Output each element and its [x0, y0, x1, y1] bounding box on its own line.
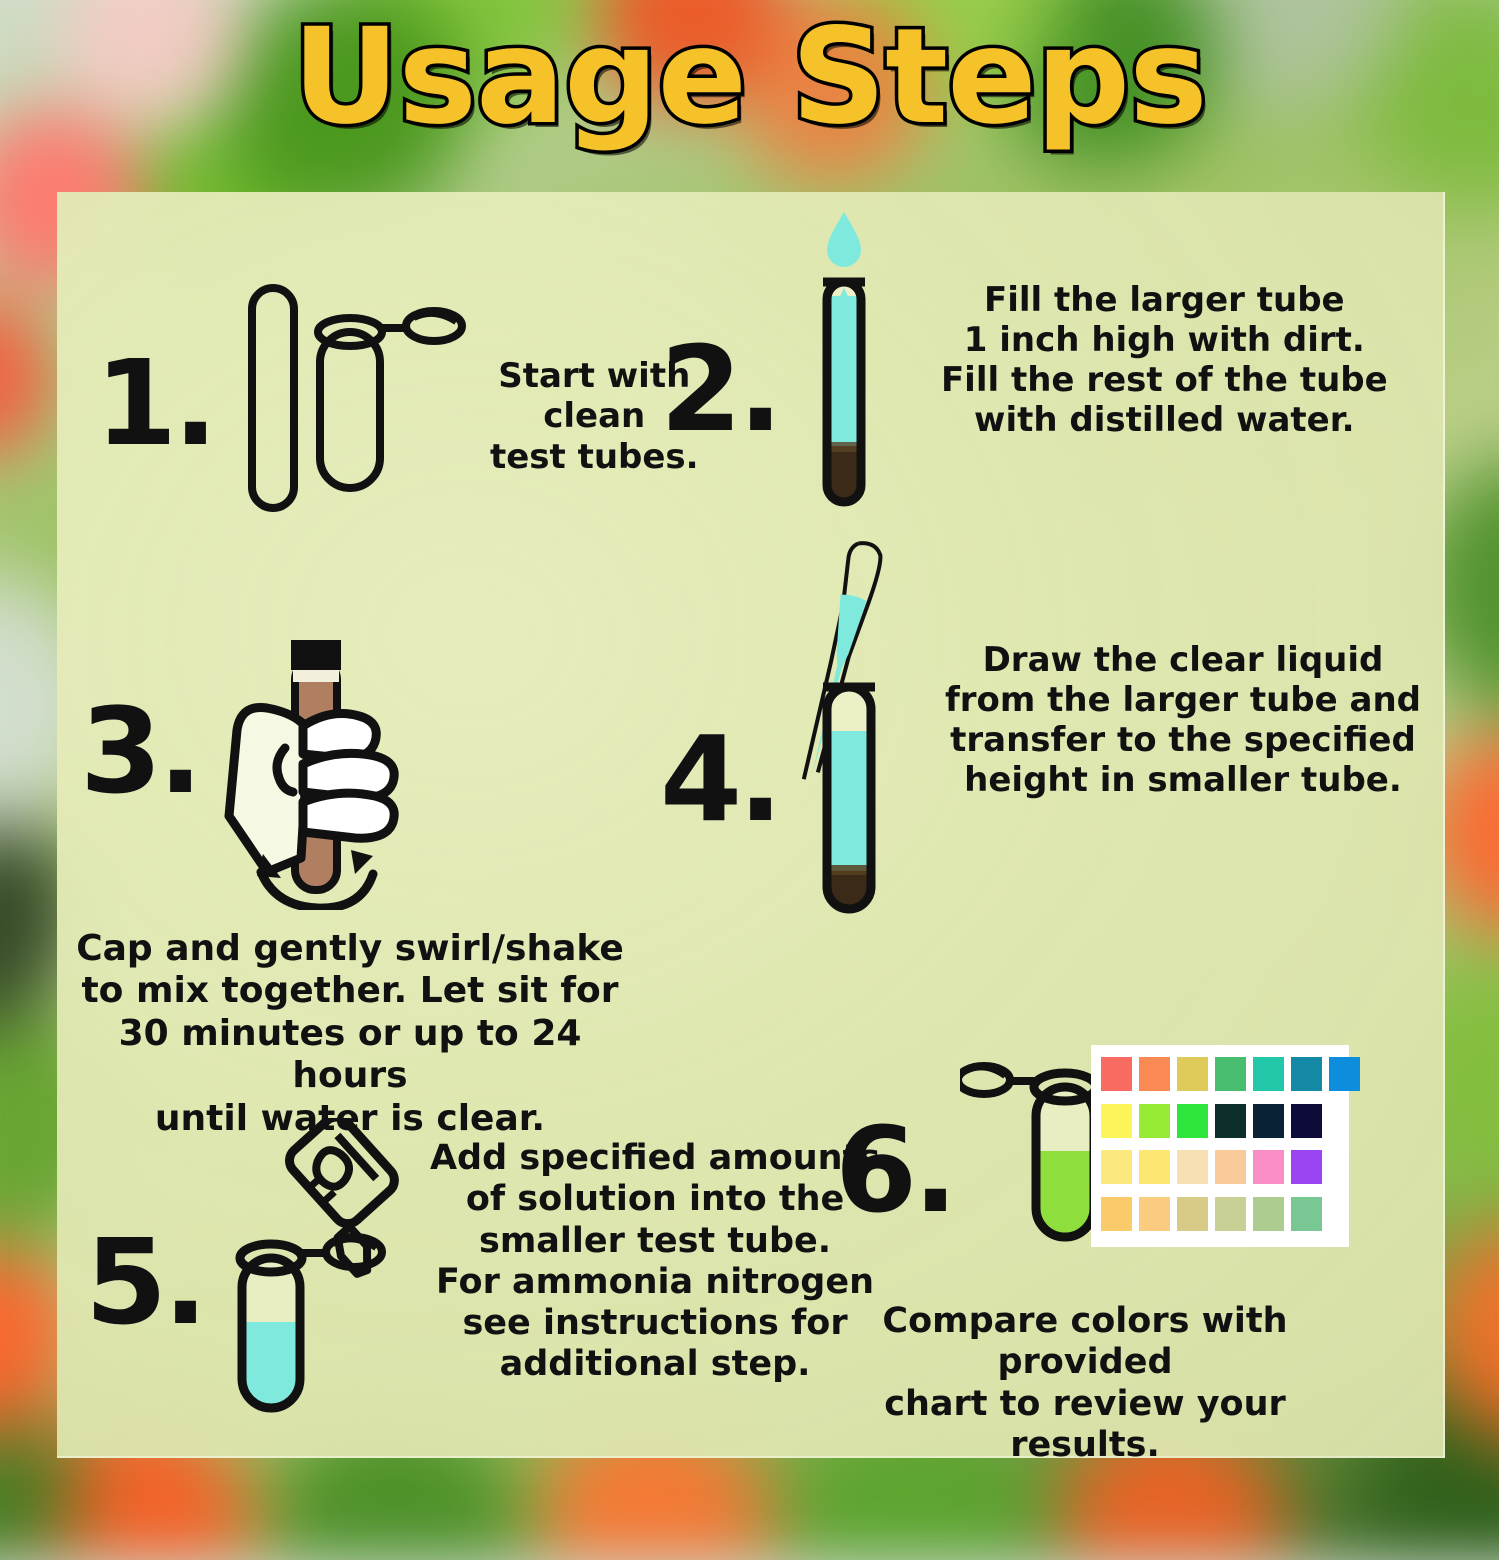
- color-swatch: [1177, 1197, 1208, 1231]
- color-swatch: [1101, 1104, 1132, 1138]
- color-swatch: [1215, 1197, 1246, 1231]
- step-3-caption: Cap and gently swirl/shake to mix togeth…: [70, 928, 630, 1140]
- step-1: 1. Start with clean test tubes.: [95, 290, 699, 515]
- color-swatch: [1215, 1057, 1246, 1091]
- step-4: 4. Draw the clear liquid from the lar: [660, 640, 1421, 925]
- comparison-color-chart: [1091, 1045, 1349, 1247]
- step-2-caption: Fill the larger tube 1 inch high with di…: [941, 280, 1388, 440]
- color-swatch: [1291, 1197, 1322, 1231]
- step-4-caption: Draw the clear liquid from the larger tu…: [945, 640, 1421, 800]
- color-swatch: [1101, 1197, 1132, 1231]
- color-swatch: [1177, 1057, 1208, 1091]
- color-swatch: [1101, 1057, 1132, 1091]
- color-chart-row: [1101, 1150, 1360, 1189]
- step-2-number: 2.: [660, 330, 779, 448]
- color-swatch: [1291, 1057, 1322, 1091]
- color-swatch: [1215, 1150, 1246, 1184]
- color-swatch: [1329, 1057, 1360, 1091]
- step-2: 2. Fill the larger tube 1 inch high with…: [660, 290, 1388, 520]
- hand-shaking-capped-tube-icon: [207, 640, 447, 910]
- pipette-drawing-liquid-icon: [795, 535, 905, 925]
- color-swatch: [1177, 1150, 1208, 1184]
- two-clean-test-tubes-icon: [238, 280, 468, 515]
- step-5-caption: Add specified amounts of solution into t…: [430, 1138, 880, 1386]
- color-swatch: [1253, 1197, 1284, 1231]
- color-chart-row: [1101, 1104, 1360, 1143]
- dropper-bottle-over-tube-icon: [218, 1118, 418, 1418]
- test-tube-with-dirt-and-water-icon: [799, 210, 889, 520]
- color-swatch: [1215, 1104, 1246, 1138]
- color-swatch: [1139, 1057, 1170, 1091]
- color-chart-row: [1101, 1197, 1360, 1236]
- color-swatch: [1253, 1150, 1284, 1184]
- color-swatch: [1101, 1150, 1132, 1184]
- color-swatch: [1139, 1197, 1170, 1231]
- color-swatch: [1291, 1104, 1322, 1138]
- color-swatch: [1177, 1104, 1208, 1138]
- page-title: Usage Steps: [0, 8, 1499, 147]
- step-4-number: 4.: [660, 720, 779, 838]
- step-6-caption: Compare colors with provided chart to re…: [815, 1301, 1355, 1466]
- step-6-number: 6.: [835, 1111, 954, 1229]
- color-swatch: [1291, 1150, 1322, 1184]
- color-swatch: [1253, 1057, 1284, 1091]
- step-5-number: 5.: [85, 1223, 204, 1341]
- step-1-number: 1.: [95, 344, 214, 462]
- color-chart-row: [1101, 1057, 1360, 1096]
- step-5: 5. Add: [85, 1118, 880, 1418]
- step-3: 3. Cap and gently swirl/shake to mix tog…: [80, 640, 630, 1140]
- color-swatch: [1139, 1104, 1170, 1138]
- color-swatch: [1253, 1104, 1284, 1138]
- color-swatch: [1139, 1150, 1170, 1184]
- step-3-number: 3.: [80, 692, 199, 810]
